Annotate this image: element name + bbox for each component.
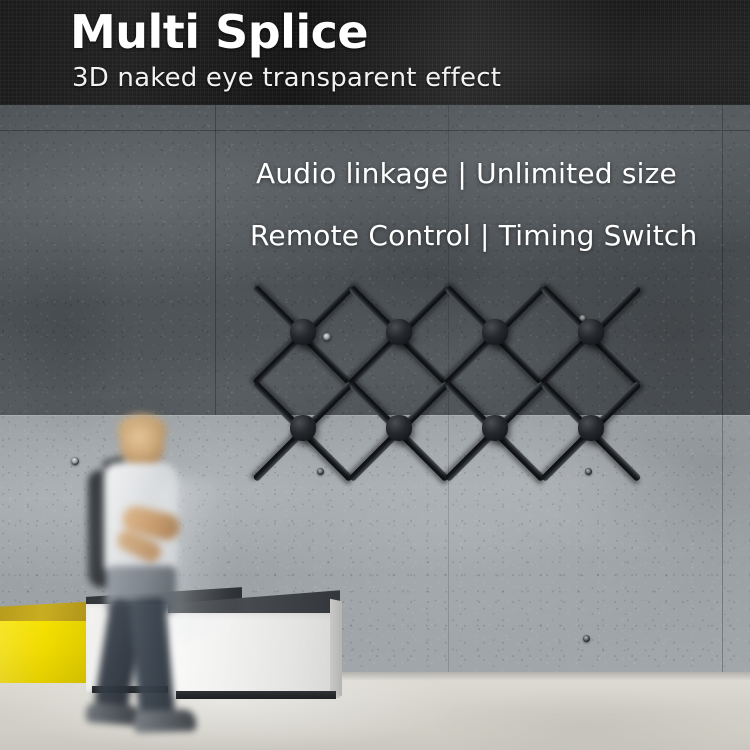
- person-shoe-back: [85, 702, 140, 726]
- wall-bolt: [583, 635, 590, 642]
- wall-upper-slab: [0, 105, 750, 415]
- wall-bolt: [323, 333, 331, 341]
- page-title: Multi Splice: [70, 8, 368, 56]
- wall-seam-vertical-left: [215, 105, 216, 415]
- wall-bolt: [585, 468, 592, 475]
- header-banner: Multi Splice 3D naked eye transparent ef…: [0, 0, 750, 105]
- person-shoe-front: [134, 709, 197, 733]
- poster-root: Audio linkage | Unlimited size Remote Co…: [0, 0, 750, 750]
- walking-person: [72, 418, 232, 750]
- feature-line-2: Remote Control | Timing Switch: [250, 219, 697, 252]
- feature-line-1: Audio linkage | Unlimited size: [256, 157, 677, 190]
- wall-bolt: [579, 315, 586, 322]
- page-subtitle: 3D naked eye transparent effect: [72, 63, 501, 93]
- wall-seam-vertical-right: [722, 105, 723, 672]
- bench-white-right-side: [330, 599, 342, 697]
- wall-seam-horizontal-lower: [0, 415, 750, 416]
- wall-bolt: [317, 468, 324, 475]
- person-motion-blur-ghost: [158, 478, 228, 638]
- wall-seam-vertical-mid: [448, 105, 449, 672]
- wall-seam-horizontal-upper: [0, 130, 750, 131]
- person-head: [120, 418, 164, 468]
